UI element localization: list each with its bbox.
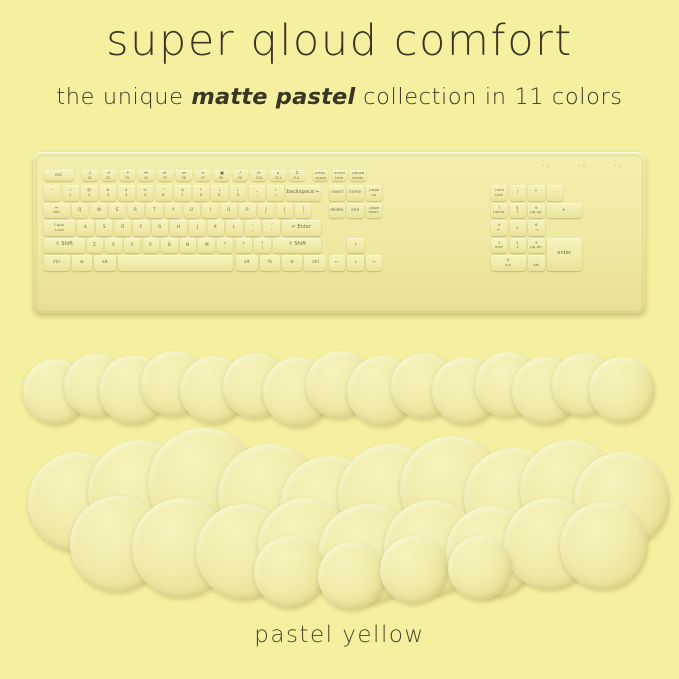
key-label: M [205,243,209,248]
key-tab[interactable]: ⇤tab [44,203,70,219]
key-blank[interactable]: ← [329,255,345,271]
key-e[interactable]: E [109,203,125,219]
key-g[interactable]: G [152,220,168,236]
key-f3[interactable]: ☀f3 [120,170,136,181]
key-key[interactable]: {[ [258,203,274,219]
key-blank[interactable]: ☰ [282,255,302,271]
key-j[interactable]: J [189,220,205,236]
key-label-lower: f4 [144,176,148,180]
key-esc[interactable]: esc [44,170,74,181]
key-u[interactable]: U [184,203,200,219]
key-label-lower: f6 [182,176,186,180]
key-label: - [554,191,556,196]
key-f2[interactable]: ☀f2 [101,170,117,181]
key-key[interactable]: ~` [44,185,60,201]
key-label-lower: , [224,245,225,249]
key-label-lower: end [495,245,503,249]
key-label: Z [94,243,97,248]
key-key[interactable]: _- [249,185,265,201]
key-lock[interactable]: scrolllock [332,170,348,181]
key-9[interactable]: (9 [211,185,227,201]
key-label: V [149,243,152,248]
key-label-lower: ; [252,228,253,232]
key-label: ⇧ Shift [288,243,306,249]
key-f12[interactable]: ⌗f12 [289,170,305,181]
key-key[interactable]: ?/ [254,238,270,254]
key-f11[interactable]: ⌂f11 [270,170,286,181]
key-blank[interactable] [118,255,233,271]
key-label-lower: f2 [107,176,111,180]
key-m[interactable]: M [198,238,214,254]
key-blank[interactable]: - [547,185,563,201]
led-indicator-3: • ↓ [614,164,622,169]
key-pg-up[interactable]: 9pg up [528,203,544,219]
key-label-lower: = [274,193,277,197]
key-w[interactable]: W [91,203,107,219]
subtitle-emphasis: matte pastel [191,84,355,110]
key-label: A [84,226,87,231]
key-key[interactable]: >. [236,238,252,254]
key-label-lower: ins [506,263,512,267]
key-5[interactable]: 5 [510,220,526,236]
key-shift[interactable]: ⇧ Shift [273,238,321,254]
key-f6[interactable]: ⏭f6 [176,170,192,181]
key-key[interactable]: 8↑ [510,203,526,219]
key-label: G [158,226,161,231]
key-8[interactable]: *8 [193,185,209,201]
key-enter[interactable]: ↵ Enter [282,220,321,236]
key-f10[interactable]: ✉f10 [251,170,267,181]
key-label: Y [172,208,175,213]
key-label-lower: down [369,210,380,214]
key-label: ctrl [312,261,319,266]
led-indicator-2: • A [578,164,586,169]
key-label-lower: 3 [107,193,110,197]
key-label: T [153,208,156,213]
key-end[interactable]: end [347,203,363,219]
key-label-lower: f8 [219,176,223,180]
key-label: ⇧ Shift [55,243,73,249]
key-ctrl[interactable]: ctrl [44,255,70,271]
key-label: alt [102,261,107,266]
key-insert[interactable]: insert [329,185,345,201]
key-y[interactable]: Y [165,203,181,219]
key-f7[interactable]: ⏸f7 [195,170,211,181]
key-key[interactable]: 6→ [528,220,544,236]
key-label: U [190,208,193,213]
key-label: C [131,243,134,248]
key-label-lower: del [533,263,539,267]
cloud-lobe [589,357,655,423]
key-label: end [351,208,359,213]
key-label-lower: lock [335,176,343,180]
key-label-lower: sysrq [315,176,326,180]
product-banner: super qloud comfort the unique matte pas… [0,0,679,679]
key-label-lower: 9 [218,193,221,197]
key-l[interactable]: L [226,220,242,236]
key-key[interactable]: <, [217,238,233,254]
key-b[interactable]: B [161,238,177,254]
key-i[interactable]: I [202,203,218,219]
key-key[interactable]: :; [245,220,261,236]
key-label-lower: ' [271,228,272,232]
key-blank[interactable]: ↓ [347,255,363,271]
keyboard[interactable]: esc♫f1☀f2☀f3⏮f4⏯f5⏭f6⏸f7■f8♪f9✉f10⌂f11⌗f… [33,152,646,315]
key-label: D [121,226,124,231]
key-h[interactable]: H [170,220,186,236]
key-home[interactable]: 7home [491,203,507,219]
key-label-lower: pg dn [531,245,542,249]
key-key[interactable]: |\ [295,203,311,219]
key-label-lower: pg up [531,210,542,214]
cloud-mouse-pad[interactable] [22,440,658,602]
key-label-lower: break [353,176,364,180]
key-label-lower: 2 [88,193,91,197]
key-o[interactable]: O [221,203,237,219]
key-label-lower: tab [54,210,61,214]
key-2[interactable]: @2 [81,185,97,201]
key-label: S [103,226,106,231]
key-f9[interactable]: ♪f9 [233,170,249,181]
key-label: enter [557,251,571,257]
key-label-lower: f1 [88,176,92,180]
page-title: super qloud comfort [0,16,679,66]
key-label-lower: 0 [237,193,240,197]
key-label-lower: → [535,228,538,232]
key-label-lower: ↓ [516,245,519,249]
key-label: L [233,226,235,231]
key-label-lower: / [262,245,263,249]
key-label: P [246,208,249,213]
key-blank[interactable]: ⊞ [72,255,92,271]
key-r[interactable]: R [128,203,144,219]
key-label: alt [244,261,249,266]
key-label: K [214,226,217,231]
key-a[interactable]: A [77,220,93,236]
key-label: W [97,208,101,213]
key-f[interactable]: F [133,220,149,236]
key-7[interactable]: &7 [174,185,190,201]
key-lock[interactable]: numlock [491,185,507,201]
key-f8[interactable]: ■f8 [214,170,230,181]
key-shift[interactable]: ⇧ Shift [44,238,85,254]
key-x[interactable]: X [105,238,121,254]
key-label: O [227,208,230,213]
key-label-lower: ` [51,193,53,197]
key-key[interactable]: }] [277,203,293,219]
color-caption: pastel yellow [0,622,679,648]
key-label-lower: 4 [125,193,128,197]
cloud-lobe [254,536,326,608]
key-label: home [349,191,361,196]
key-3[interactable]: #3 [100,185,116,201]
key-label: X [112,243,115,248]
key-delete[interactable]: delete [329,203,345,219]
key-label: ↓ [354,261,357,266]
key-ctrl[interactable]: ctrl [304,255,326,271]
key-label-lower: 7 [181,193,184,197]
key-label-lower: 1 [70,193,73,197]
key-label-lower: f10 [256,176,263,180]
key-label-lower: 6 [163,193,166,197]
key-fn[interactable]: fn [260,255,280,271]
key-label: backspace ← [287,190,320,196]
cloud-lobe [380,536,448,604]
key-label: esc [55,173,62,178]
key-blank[interactable]: ↑ [347,238,363,254]
key-end[interactable]: 1end [491,238,507,254]
key-label: delete [330,208,343,213]
key-label-upper: 5 [517,226,520,230]
key-label: R [134,208,137,213]
key-label-lower: 8 [200,193,203,197]
key-1[interactable]: !1 [63,185,79,201]
key-label: insert [331,191,343,196]
key-f5[interactable]: ⏯f5 [157,170,173,181]
key-s[interactable]: S [96,220,112,236]
key-home[interactable]: home [347,185,363,201]
key-label-lower: f9 [238,176,242,180]
cloud-lobe [318,542,386,610]
key-c[interactable]: C [124,238,140,254]
key-ins[interactable]: 0ins [491,255,526,271]
key-label-lower: up [371,193,376,197]
key-v[interactable]: V [143,238,159,254]
key-label-lower: lock [495,193,503,197]
key-n[interactable]: N [180,238,196,254]
key-label: ⊞ [80,261,83,266]
key-label: ☰ [290,261,294,266]
key-label: F [140,226,142,231]
key-label-lower: 5 [144,193,147,197]
key-label: fn [268,261,272,266]
key-6[interactable]: ^6 [156,185,172,201]
key-k[interactable]: K [208,220,224,236]
key-down[interactable]: pagedown [366,203,382,219]
key-label: → [372,261,375,266]
key-label: * [535,191,537,196]
cloud-lobe [448,536,512,600]
key-lock[interactable]: CapsLock [44,220,75,236]
key-del[interactable]: .del [528,255,544,271]
subtitle-pre: the unique [56,84,191,110]
key-blank[interactable]: + [547,203,582,219]
key-label: I [210,208,211,213]
key-label: ← [335,261,338,266]
key-p[interactable]: P [239,203,255,219]
key-label: N [186,243,189,248]
key-label: Q [78,208,81,213]
key-4[interactable]: $4 [118,185,134,201]
key-q[interactable]: Q [72,203,88,219]
key-0[interactable]: )0 [230,185,246,201]
key-enter[interactable]: enter [547,238,582,271]
key-label-lower: ] [284,210,286,214]
key-label: ↵ Enter [292,225,312,231]
key-blank[interactable]: → [366,255,382,271]
key-label-lower: f11 [275,176,282,180]
key-f1[interactable]: ♫f1 [82,170,98,181]
key-label: H [177,226,180,231]
subtitle-post: collection in 11 colors [355,84,622,110]
page-subtitle: the unique matte pastel collection in 11… [0,84,679,110]
key-alt[interactable]: alt [236,255,258,271]
key-alt[interactable]: alt [94,255,116,271]
key-5[interactable]: %5 [137,185,153,201]
key-z[interactable]: Z [87,238,103,254]
key-label: ↑ [354,243,357,248]
key-label: E [116,208,119,213]
key-backspace[interactable]: backspace ← [286,185,321,201]
key-key[interactable]: += [267,185,283,201]
key-label-lower: ↑ [516,210,519,214]
key-label-lower: [ [265,210,267,214]
key-blank[interactable]: * [528,185,544,201]
key-label-lower: . [243,245,244,249]
key-label: / [517,191,518,196]
key-up[interactable]: pageup [366,185,382,201]
key-break[interactable]: pausebreak [350,170,366,181]
key-sysrq[interactable]: prtscsysrq [313,170,329,181]
key-key[interactable]: 2↓ [510,238,526,254]
led-indicator-1: • 1 [542,164,550,169]
key-label: J [197,226,198,231]
key-d[interactable]: D [115,220,131,236]
key-key[interactable]: 4← [491,220,507,236]
key-label-lower: home [494,210,505,214]
key-pg-dn[interactable]: 3pg dn [528,238,544,254]
key-label-lower: ← [498,228,501,232]
key-label-lower: f3 [125,176,129,180]
key-label-lower: \ [303,210,304,214]
key-label: ctrl [53,261,60,266]
cloud-lobe [560,502,648,590]
key-label-lower: - [256,193,257,197]
key-label: B [168,243,171,248]
key-label: + [563,208,566,213]
key-blank[interactable]: / [510,185,526,201]
key-f4[interactable]: ⏮f4 [138,170,154,181]
cloud-keyboard-wrist-rest[interactable] [22,352,658,428]
key-label-lower: f12 [293,176,300,180]
key-key[interactable]: "' [263,220,279,236]
key-label-lower: f5 [163,176,167,180]
key-label-lower: Lock [55,228,64,232]
key-label-lower: f7 [201,176,205,180]
key-t[interactable]: T [146,203,162,219]
